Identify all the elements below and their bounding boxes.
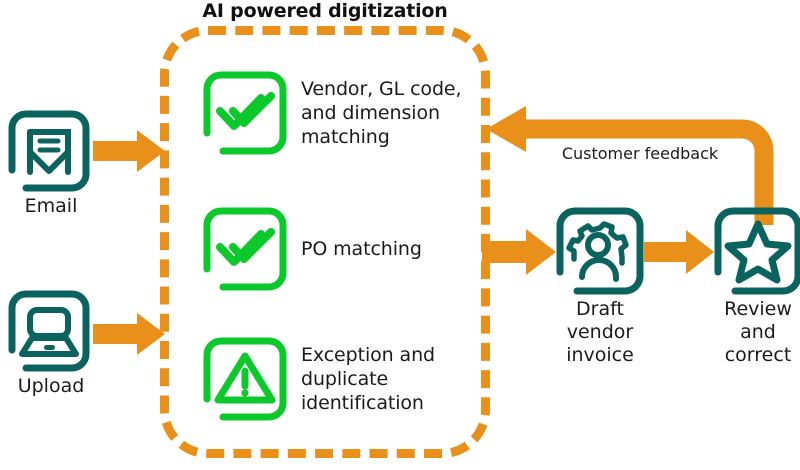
feature-label-po-matching: PO matching <box>301 237 422 261</box>
laptop-upload-icon <box>8 290 90 372</box>
feature-item-po-matching[interactable]: PO matching <box>203 207 422 291</box>
arrow-email-to-ai <box>93 130 169 174</box>
output-node-review-and-correct[interactable]: Review and correct <box>703 207 800 367</box>
feature-item-exception-identification[interactable]: Exception and duplicate identification <box>203 337 435 421</box>
source-node-upload[interactable]: Upload <box>8 290 104 398</box>
email-envelope-icon <box>8 110 90 192</box>
output-node-draft-vendor-invoice[interactable]: Draft vendor invoice <box>545 207 655 367</box>
feature-label-vendor-matching: Vendor, GL code, and dimension matching <box>301 77 461 149</box>
output-label-draft-vendor-invoice: Draft vendor invoice <box>545 298 655 367</box>
warning-triangle-icon <box>203 337 287 421</box>
feature-label-exception-identification: Exception and duplicate identification <box>301 343 435 415</box>
star-icon <box>714 207 800 295</box>
feedback-label: Customer feedback <box>520 144 760 163</box>
diagram-canvas: AI powered digitization Customer feedbac… <box>0 0 800 470</box>
double-check-icon <box>203 207 287 291</box>
source-label-upload: Upload <box>8 375 94 398</box>
gear-person-icon <box>556 207 644 295</box>
source-label-email: Email <box>8 195 94 218</box>
source-node-email[interactable]: Email <box>8 110 104 218</box>
double-check-icon <box>203 71 287 155</box>
page-title: AI powered digitization <box>160 0 490 22</box>
feature-item-vendor-matching[interactable]: Vendor, GL code, and dimension matching <box>203 71 461 155</box>
output-label-review-and-correct: Review and correct <box>703 298 800 367</box>
arrow-upload-to-ai <box>93 313 169 357</box>
